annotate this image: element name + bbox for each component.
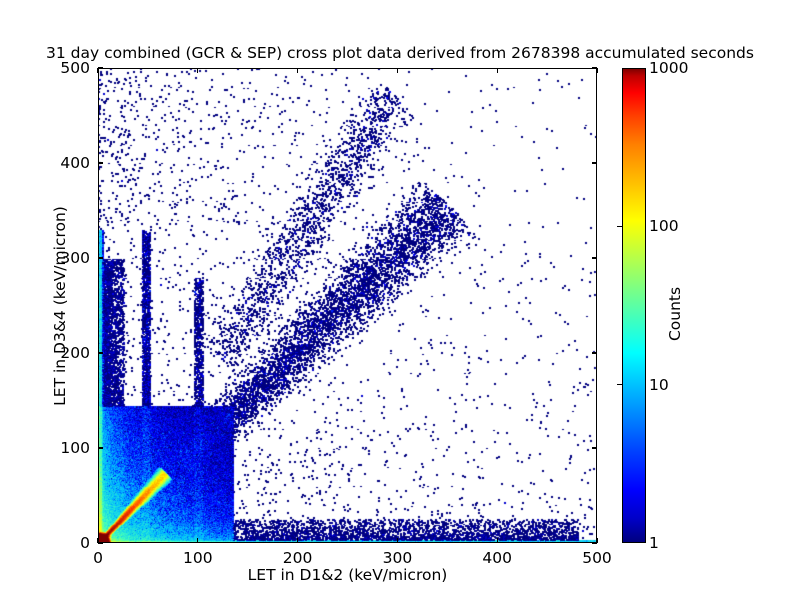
y-axis-title: LET in D3&4 (keV/micron)	[51, 96, 69, 516]
colorbar-tick-label: 1000	[649, 59, 688, 77]
x-tick-label: 0	[93, 549, 103, 567]
y-tick-left	[98, 352, 103, 353]
colorbar[interactable]	[622, 68, 646, 543]
y-tick-right	[592, 447, 597, 448]
colorbar-tick	[617, 384, 622, 385]
y-tick-right	[592, 542, 597, 543]
figure-canvas: 31 day combined (GCR & SEP) cross plot d…	[0, 0, 800, 600]
x-tick-bottom	[197, 538, 198, 543]
y-tick-label: 0	[42, 534, 90, 552]
y-tick-label: 500	[42, 59, 90, 77]
y-tick-left	[98, 67, 103, 68]
x-tick-top	[497, 68, 498, 73]
y-tick-right	[592, 67, 597, 68]
x-tick-top	[397, 68, 398, 73]
y-tick-left	[98, 542, 103, 543]
x-tick-label: 400	[482, 549, 512, 567]
x-tick-top	[97, 68, 98, 73]
y-tick-left	[98, 162, 103, 163]
x-tick-bottom	[297, 538, 298, 543]
x-tick-bottom	[397, 538, 398, 543]
plot-area[interactable]	[98, 68, 597, 543]
colorbar-gradient	[622, 68, 646, 543]
y-tick-left	[98, 447, 103, 448]
density-scatter-plot	[99, 69, 597, 543]
x-tick-label: 500	[582, 549, 612, 567]
x-tick-label: 300	[383, 549, 413, 567]
x-tick-bottom	[497, 538, 498, 543]
colorbar-title: Counts	[666, 184, 684, 444]
y-tick-right	[592, 352, 597, 353]
colorbar-tick-label: 1	[649, 534, 659, 552]
x-axis-title: LET in D1&2 (keV/micron)	[98, 566, 597, 584]
x-tick-top	[197, 68, 198, 73]
y-tick-left	[98, 257, 103, 258]
y-tick-right	[592, 162, 597, 163]
x-tick-top	[596, 68, 597, 73]
x-tick-label: 100	[183, 549, 213, 567]
x-tick-label: 200	[283, 549, 313, 567]
colorbar-tick	[617, 226, 622, 227]
x-tick-top	[297, 68, 298, 73]
y-tick-right	[592, 257, 597, 258]
